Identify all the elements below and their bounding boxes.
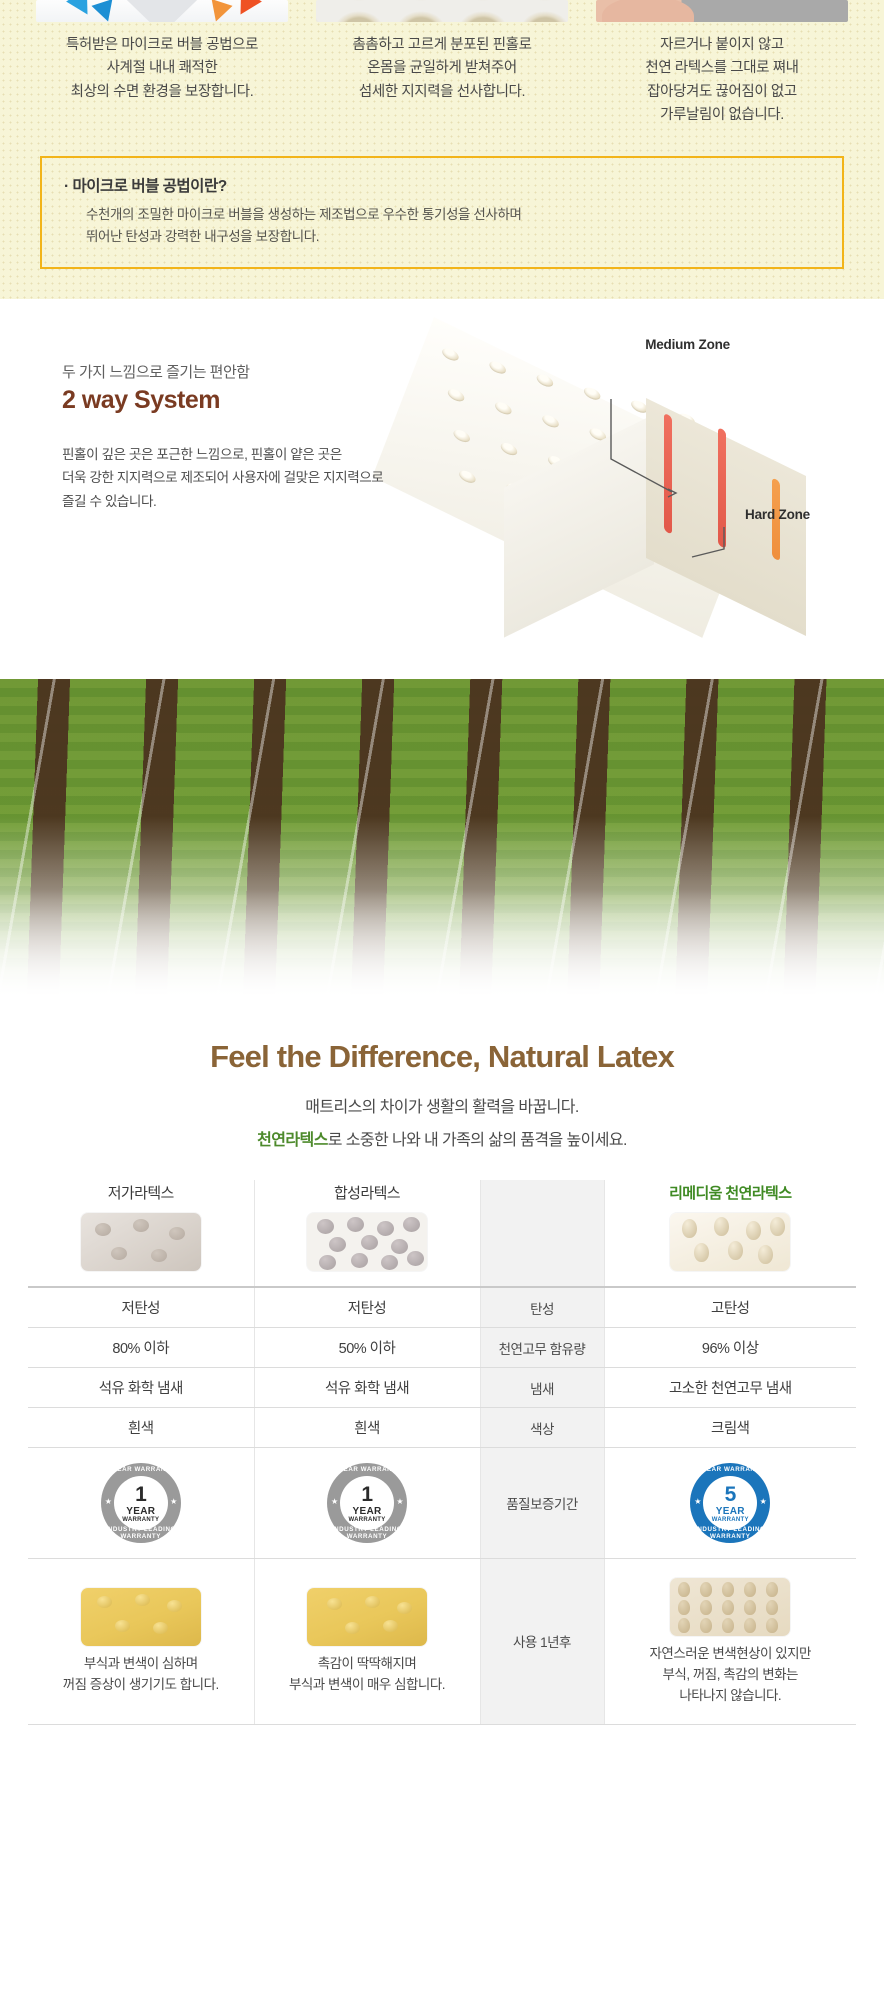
wedge-shape xyxy=(100,0,224,22)
synthetic-latex-swatch xyxy=(307,1213,427,1271)
table-row-after-one-year: 부식과 변색이 심하며꺼짐 증상이 생기기도 합니다. 촉감이 딱딱해지며부식과… xyxy=(28,1559,856,1725)
info-box-body: 수천개의 조밀한 마이크로 버블을 생성하는 제조법으로 우수한 통기성을 선사… xyxy=(64,204,820,249)
feature-card: 촘촘하고 고르게 분포된 핀홀로온몸을 균일하게 받쳐주어섬세한 지지력을 선사… xyxy=(316,0,568,128)
natural-aging-caption: 자연스러운 변색현상이 있지만부식, 꺼짐, 촉감의 변화는나타나지 않습니다. xyxy=(609,1642,853,1715)
info-box-title-text: 마이크로 버블 공법이란? xyxy=(72,178,226,195)
cell-attribute-color: 색상 xyxy=(480,1408,604,1448)
cell-synth-elasticity: 저탄성 xyxy=(254,1287,480,1328)
two-way-text-block: 두 가지 느낌으로 즐기는 편안함 2 way System 핀홀이 깊은 곳은… xyxy=(62,361,482,513)
cell-attribute-aging: 사용 1년후 xyxy=(480,1559,604,1725)
cell-low-warranty: 1 YEAR WARRANTY INDUSTRY LEADING WARRANT… xyxy=(28,1448,254,1559)
cell-synth-warranty: 1 YEAR WARRANTY INDUSTRY LEADING WARRANT… xyxy=(254,1448,480,1559)
feature-caption: 촘촘하고 고르게 분포된 핀홀로온몸을 균일하게 받쳐주어섬세한 지지력을 선사… xyxy=(316,34,568,104)
badge-warranty-word: WARRANTY xyxy=(348,1517,385,1523)
table-cell-attribute-header xyxy=(480,1180,604,1287)
latex-comparison-table: 저가라텍스 합성라텍스 xyxy=(28,1180,856,1725)
table-row-rubber-content: 80% 이하 50% 이하 천연고무 함유량 96% 이상 xyxy=(28,1328,856,1368)
microbubble-info-box: · 마이크로 버블 공법이란? 수천개의 조밀한 마이크로 버블을 생성하는 제… xyxy=(40,156,844,269)
cell-natural-elasticity: 고탄성 xyxy=(604,1287,856,1328)
arrow-orange-icon xyxy=(205,0,232,22)
difference-heading-section: Feel the Difference, Natural Latex 매트리스의… xyxy=(0,1039,884,1150)
feature-cards-row: 특허받은 마이크로 버블 공법으로사계절 내내 쾌적한최상의 수면 환경을 보장… xyxy=(0,0,884,128)
star-left-icon: ★ xyxy=(694,1497,701,1506)
feature-caption: 특허받은 마이크로 버블 공법으로사계절 내내 쾌적한최상의 수면 환경을 보장… xyxy=(36,34,288,104)
cell-synth-smell: 석유 화학 냄새 xyxy=(254,1368,480,1408)
badge-warranty-word: WARRANTY xyxy=(712,1517,749,1523)
badge-year-word: YEAR xyxy=(716,1506,745,1517)
table-row-elasticity: 저탄성 저탄성 탄성 고탄성 xyxy=(28,1287,856,1328)
table-row-warranty: 1 YEAR WARRANTY INDUSTRY LEADING WARRANT… xyxy=(28,1448,856,1559)
badge-year-number: 5 xyxy=(725,1484,736,1505)
table-header-row: 저가라텍스 합성라텍스 xyxy=(28,1180,856,1287)
natural-aged-swatch xyxy=(670,1578,790,1636)
two-way-title: 2 way System xyxy=(62,386,482,415)
features-section: 특허받은 마이크로 버블 공법으로사계절 내내 쾌적한최상의 수면 환경을 보장… xyxy=(0,0,884,299)
hero-white-fade xyxy=(0,889,884,1039)
table-cell-natural-header: 리메디움 천연라텍스 xyxy=(604,1180,856,1287)
info-box-title: · 마이크로 버블 공법이란? xyxy=(64,174,820,196)
bullet-icon: · xyxy=(64,178,69,195)
cell-natural-aging: 자연스러운 변색현상이 있지만부식, 꺼짐, 촉감의 변화는나타나지 않습니다. xyxy=(604,1559,856,1725)
medium-zone-label: Medium Zone xyxy=(645,337,730,352)
comparison-table-section: 저가라텍스 합성라텍스 xyxy=(0,1150,884,1765)
remedium-natural-latex-swatch xyxy=(670,1213,790,1271)
cell-low-rubber-content: 80% 이하 xyxy=(28,1328,254,1368)
hard-zone-label: Hard Zone xyxy=(745,507,810,522)
column-name-low: 저가라텍스 xyxy=(32,1182,250,1203)
low-aging-caption: 부식과 변색이 심하며꺼짐 증상이 생기기도 합니다. xyxy=(32,1652,250,1704)
finger-shape xyxy=(602,0,694,22)
difference-subtitle-2-rest: 로 소중한 나와 내 가족의 삶의 품격을 높이세요. xyxy=(328,1132,627,1149)
badge-year-number: 1 xyxy=(361,1484,372,1505)
table-cell-low-header: 저가라텍스 xyxy=(28,1180,254,1287)
cell-natural-warranty: 5 YEAR WARRANTY INDUSTRY LEADING WARRANT… xyxy=(604,1448,856,1559)
column-name-natural: 리메디움 천연라텍스 xyxy=(609,1182,853,1203)
star-right-icon: ★ xyxy=(396,1497,403,1506)
cell-natural-rubber-content: 96% 이상 xyxy=(604,1328,856,1368)
low-grade-aged-swatch xyxy=(81,1588,201,1646)
table-cell-synth-header: 합성라텍스 xyxy=(254,1180,480,1287)
warranty-badge-1-year-icon: 1 YEAR WARRANTY INDUSTRY LEADING WARRANT… xyxy=(101,1463,181,1543)
feature-caption: 자르거나 붙이지 않고천연 라텍스를 그대로 쪄내잡아당겨도 끊어짐이 없고가루… xyxy=(596,34,848,128)
cell-attribute-warranty: 품질보증기간 xyxy=(480,1448,604,1559)
warranty-badge-1-year-icon: 1 YEAR WARRANTY INDUSTRY LEADING WARRANT… xyxy=(327,1463,407,1543)
pinhole-latex-photo xyxy=(316,0,568,22)
cell-low-smell: 석유 화학 냄새 xyxy=(28,1368,254,1408)
badge-year-number: 1 xyxy=(135,1484,146,1505)
star-left-icon: ★ xyxy=(331,1497,338,1506)
cell-synth-color: 흰색 xyxy=(254,1408,480,1448)
low-grade-latex-swatch xyxy=(81,1213,201,1271)
cell-low-elasticity: 저탄성 xyxy=(28,1287,254,1328)
cell-low-aging: 부식과 변색이 심하며꺼짐 증상이 생기기도 합니다. xyxy=(28,1559,254,1725)
table-row-color: 흰색 흰색 색상 크림색 xyxy=(28,1408,856,1448)
cell-natural-smell: 고소한 천연고무 냄새 xyxy=(604,1368,856,1408)
difference-title: Feel the Difference, Natural Latex xyxy=(0,1039,884,1075)
two-way-kicker: 두 가지 느낌으로 즐기는 편안함 xyxy=(62,361,482,382)
cell-attribute-rubber-content: 천연고무 함유량 xyxy=(480,1328,604,1368)
feature-card: 특허받은 마이크로 버블 공법으로사계절 내내 쾌적한최상의 수면 환경을 보장… xyxy=(36,0,288,128)
star-left-icon: ★ xyxy=(105,1497,112,1506)
synthetic-aged-swatch xyxy=(307,1588,427,1646)
two-way-system-section: Medium Zone Hard Zone 두 가지 느낌으로 즐기는 편안함 … xyxy=(0,299,884,679)
badge-arc-top: 1 YEAR WARRANTY xyxy=(101,1466,181,1473)
feature-card: 자르거나 붙이지 않고천연 라텍스를 그대로 쪄내잡아당겨도 끊어짐이 없고가루… xyxy=(596,0,848,128)
badge-arc-top: 1 YEAR WARRANTY xyxy=(327,1466,407,1473)
badge-year-word: YEAR xyxy=(353,1506,382,1517)
difference-subtitle-1: 매트리스의 차이가 생활의 활력을 바꿉니다. xyxy=(0,1093,884,1117)
natural-latex-highlight: 천연라텍스 xyxy=(257,1132,328,1149)
column-name-synth: 합성라텍스 xyxy=(259,1182,476,1203)
hand-stretch-latex-photo xyxy=(596,0,848,22)
cell-attribute-smell: 냄새 xyxy=(480,1368,604,1408)
warranty-badge-5-year-icon: 5 YEAR WARRANTY INDUSTRY LEADING WARRANT… xyxy=(690,1463,770,1543)
rubber-plantation-hero xyxy=(0,679,884,1039)
star-right-icon: ★ xyxy=(170,1497,177,1506)
cell-synth-rubber-content: 50% 이하 xyxy=(254,1328,480,1368)
table-row-smell: 석유 화학 냄새 석유 화학 냄새 냄새 고소한 천연고무 냄새 xyxy=(28,1368,856,1408)
cell-attribute-elasticity: 탄성 xyxy=(480,1287,604,1328)
cell-synth-aging: 촉감이 딱딱해지며부식과 변색이 매우 심합니다. xyxy=(254,1559,480,1725)
badge-arc-top: 5 YEAR WARRANTY xyxy=(690,1466,770,1473)
pinhole-pattern xyxy=(316,0,568,22)
cell-low-color: 흰색 xyxy=(28,1408,254,1448)
microbubble-airflow-photo xyxy=(36,0,288,22)
difference-subtitle-2: 천연라텍스로 소중한 나와 내 가족의 삶의 품격을 높이세요. xyxy=(0,1126,884,1150)
two-way-description: 핀홀이 깊은 곳은 포근한 느낌으로, 핀홀이 얕은 곳은더욱 강한 지지력으로… xyxy=(62,443,482,513)
synth-aging-caption: 촉감이 딱딱해지며부식과 변색이 매우 심합니다. xyxy=(259,1652,476,1704)
badge-year-word: YEAR xyxy=(126,1506,155,1517)
arrow-red-icon xyxy=(230,0,262,21)
star-right-icon: ★ xyxy=(760,1497,767,1506)
cell-natural-color: 크림색 xyxy=(604,1408,856,1448)
badge-warranty-word: WARRANTY xyxy=(122,1517,159,1523)
